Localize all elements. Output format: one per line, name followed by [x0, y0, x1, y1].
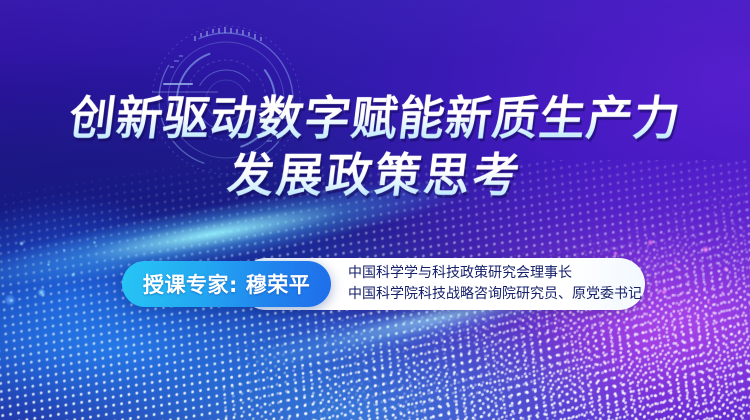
- speaker-credential-line-1: 中国科学学与科技政策研究会理事长: [348, 263, 642, 284]
- page-title: 创新驱动数字赋能新质生产力 发展政策思考: [0, 90, 750, 204]
- speaker-row: 授课专家: 穆荣平: [122, 261, 331, 307]
- speaker-credential-line-2: 中国科学院科技战略咨询院研究员、原党委书记: [348, 284, 642, 305]
- speaker-name-badge: 授课专家: 穆荣平: [122, 261, 331, 307]
- course-promo-banner: 创新驱动数字赋能新质生产力 发展政策思考 授课专家: 穆荣平 中国科学学与科技政…: [0, 0, 750, 420]
- title-line-1: 创新驱动数字赋能新质生产力: [0, 90, 750, 147]
- speaker-name-label: 授课专家: 穆荣平: [143, 269, 310, 299]
- speaker-credentials: 中国科学学与科技政策研究会理事长 中国科学院科技战略咨询院研究员、原党委书记: [348, 263, 642, 305]
- title-line-2: 发展政策思考: [0, 147, 750, 204]
